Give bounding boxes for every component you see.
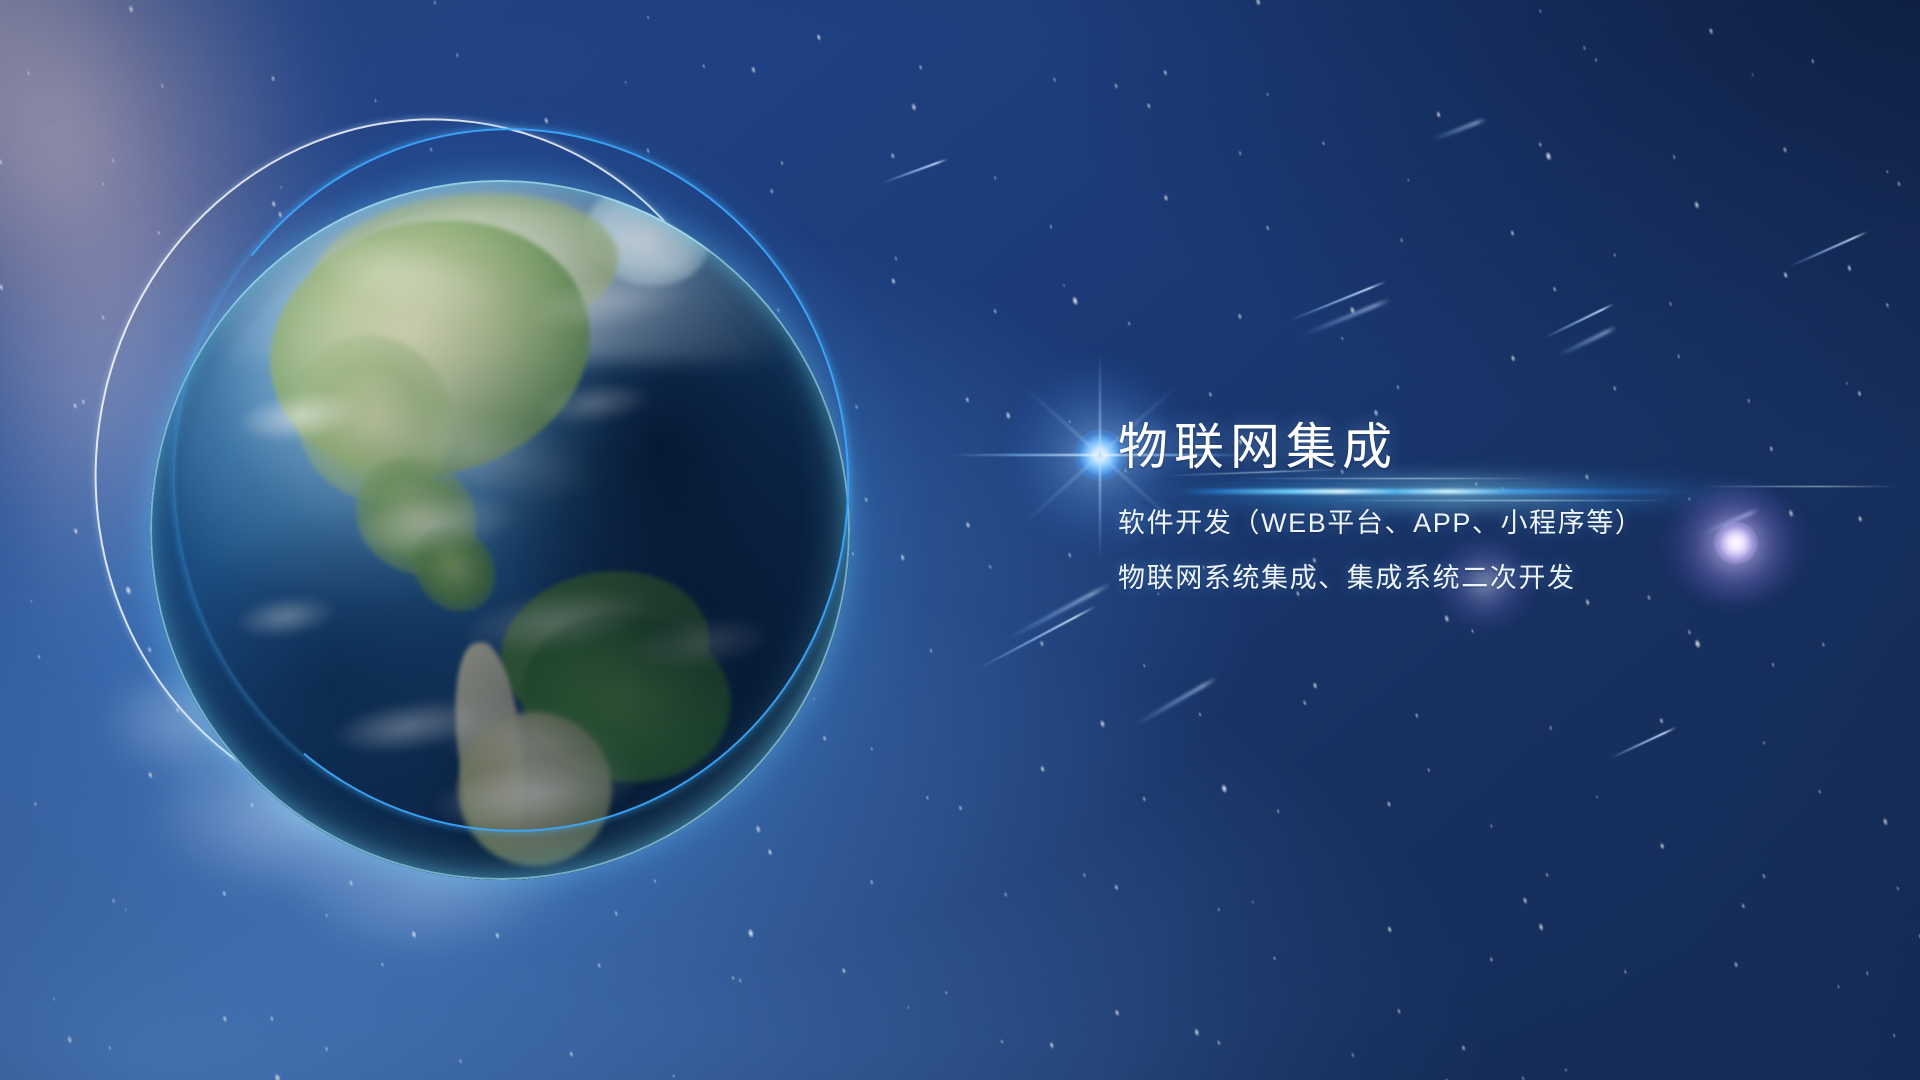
subtitle-line-1: 软件开发（WEB平台、APP、小程序等） — [1118, 510, 1858, 537]
hero-banner: 物联网集成 软件开发（WEB平台、APP、小程序等） 物联网系统集成、集成系统二… — [0, 0, 1920, 1080]
banner-copy: 物联网集成 软件开发（WEB平台、APP、小程序等） 物联网系统集成、集成系统二… — [1118, 418, 1858, 592]
page-title: 物联网集成 — [1118, 418, 1858, 476]
subtitle-line-2: 物联网系统集成、集成系统二次开发 — [1118, 565, 1858, 592]
